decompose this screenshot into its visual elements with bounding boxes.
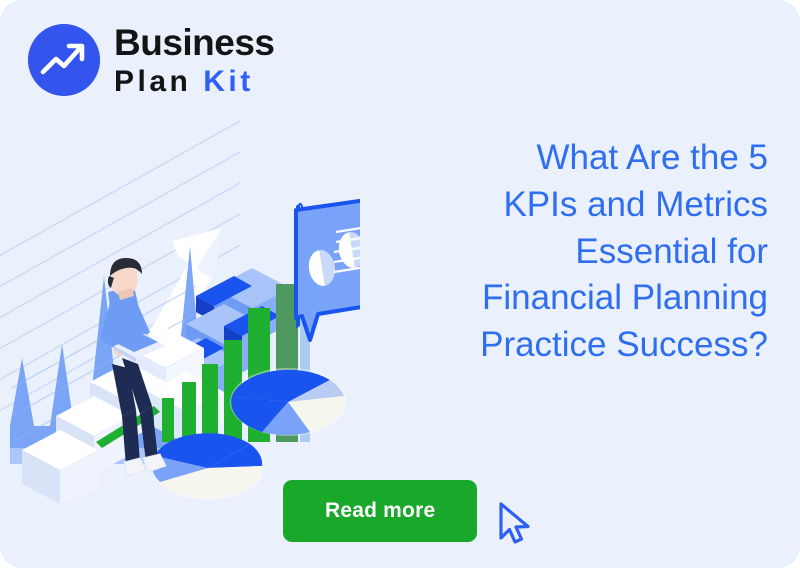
headline-line-3: Essential for — [348, 229, 768, 276]
headline-line-4: Financial Planning — [348, 275, 768, 322]
page-title: What Are the 5 KPIs and Metrics Essentia… — [348, 135, 768, 368]
brand-wordmark: Business Plan Kit — [114, 22, 275, 97]
brand-name-plan: Plan — [114, 65, 191, 98]
brand-name-line2: Plan Kit — [114, 67, 275, 97]
mouse-pointer-icon — [495, 500, 535, 548]
promo-card: Business Plan Kit What Are the 5 KPIs an… — [0, 0, 800, 568]
brand-logo[interactable]: Business Plan Kit — [28, 22, 275, 97]
pie-chart-small — [152, 433, 264, 500]
illustration — [0, 96, 360, 516]
cta-area: Read more — [283, 474, 535, 548]
read-more-button[interactable]: Read more — [283, 480, 477, 542]
brand-name-line1: Business — [114, 24, 275, 61]
headline-line-2: KPIs and Metrics — [348, 182, 768, 229]
headline-line-5: Practice Success? — [348, 322, 768, 369]
headline-line-1: What Are the 5 — [348, 135, 768, 182]
pie-chart-large — [230, 368, 346, 436]
trending-arrow-circle-icon — [28, 24, 100, 96]
brand-name-kit: Kit — [203, 65, 254, 98]
